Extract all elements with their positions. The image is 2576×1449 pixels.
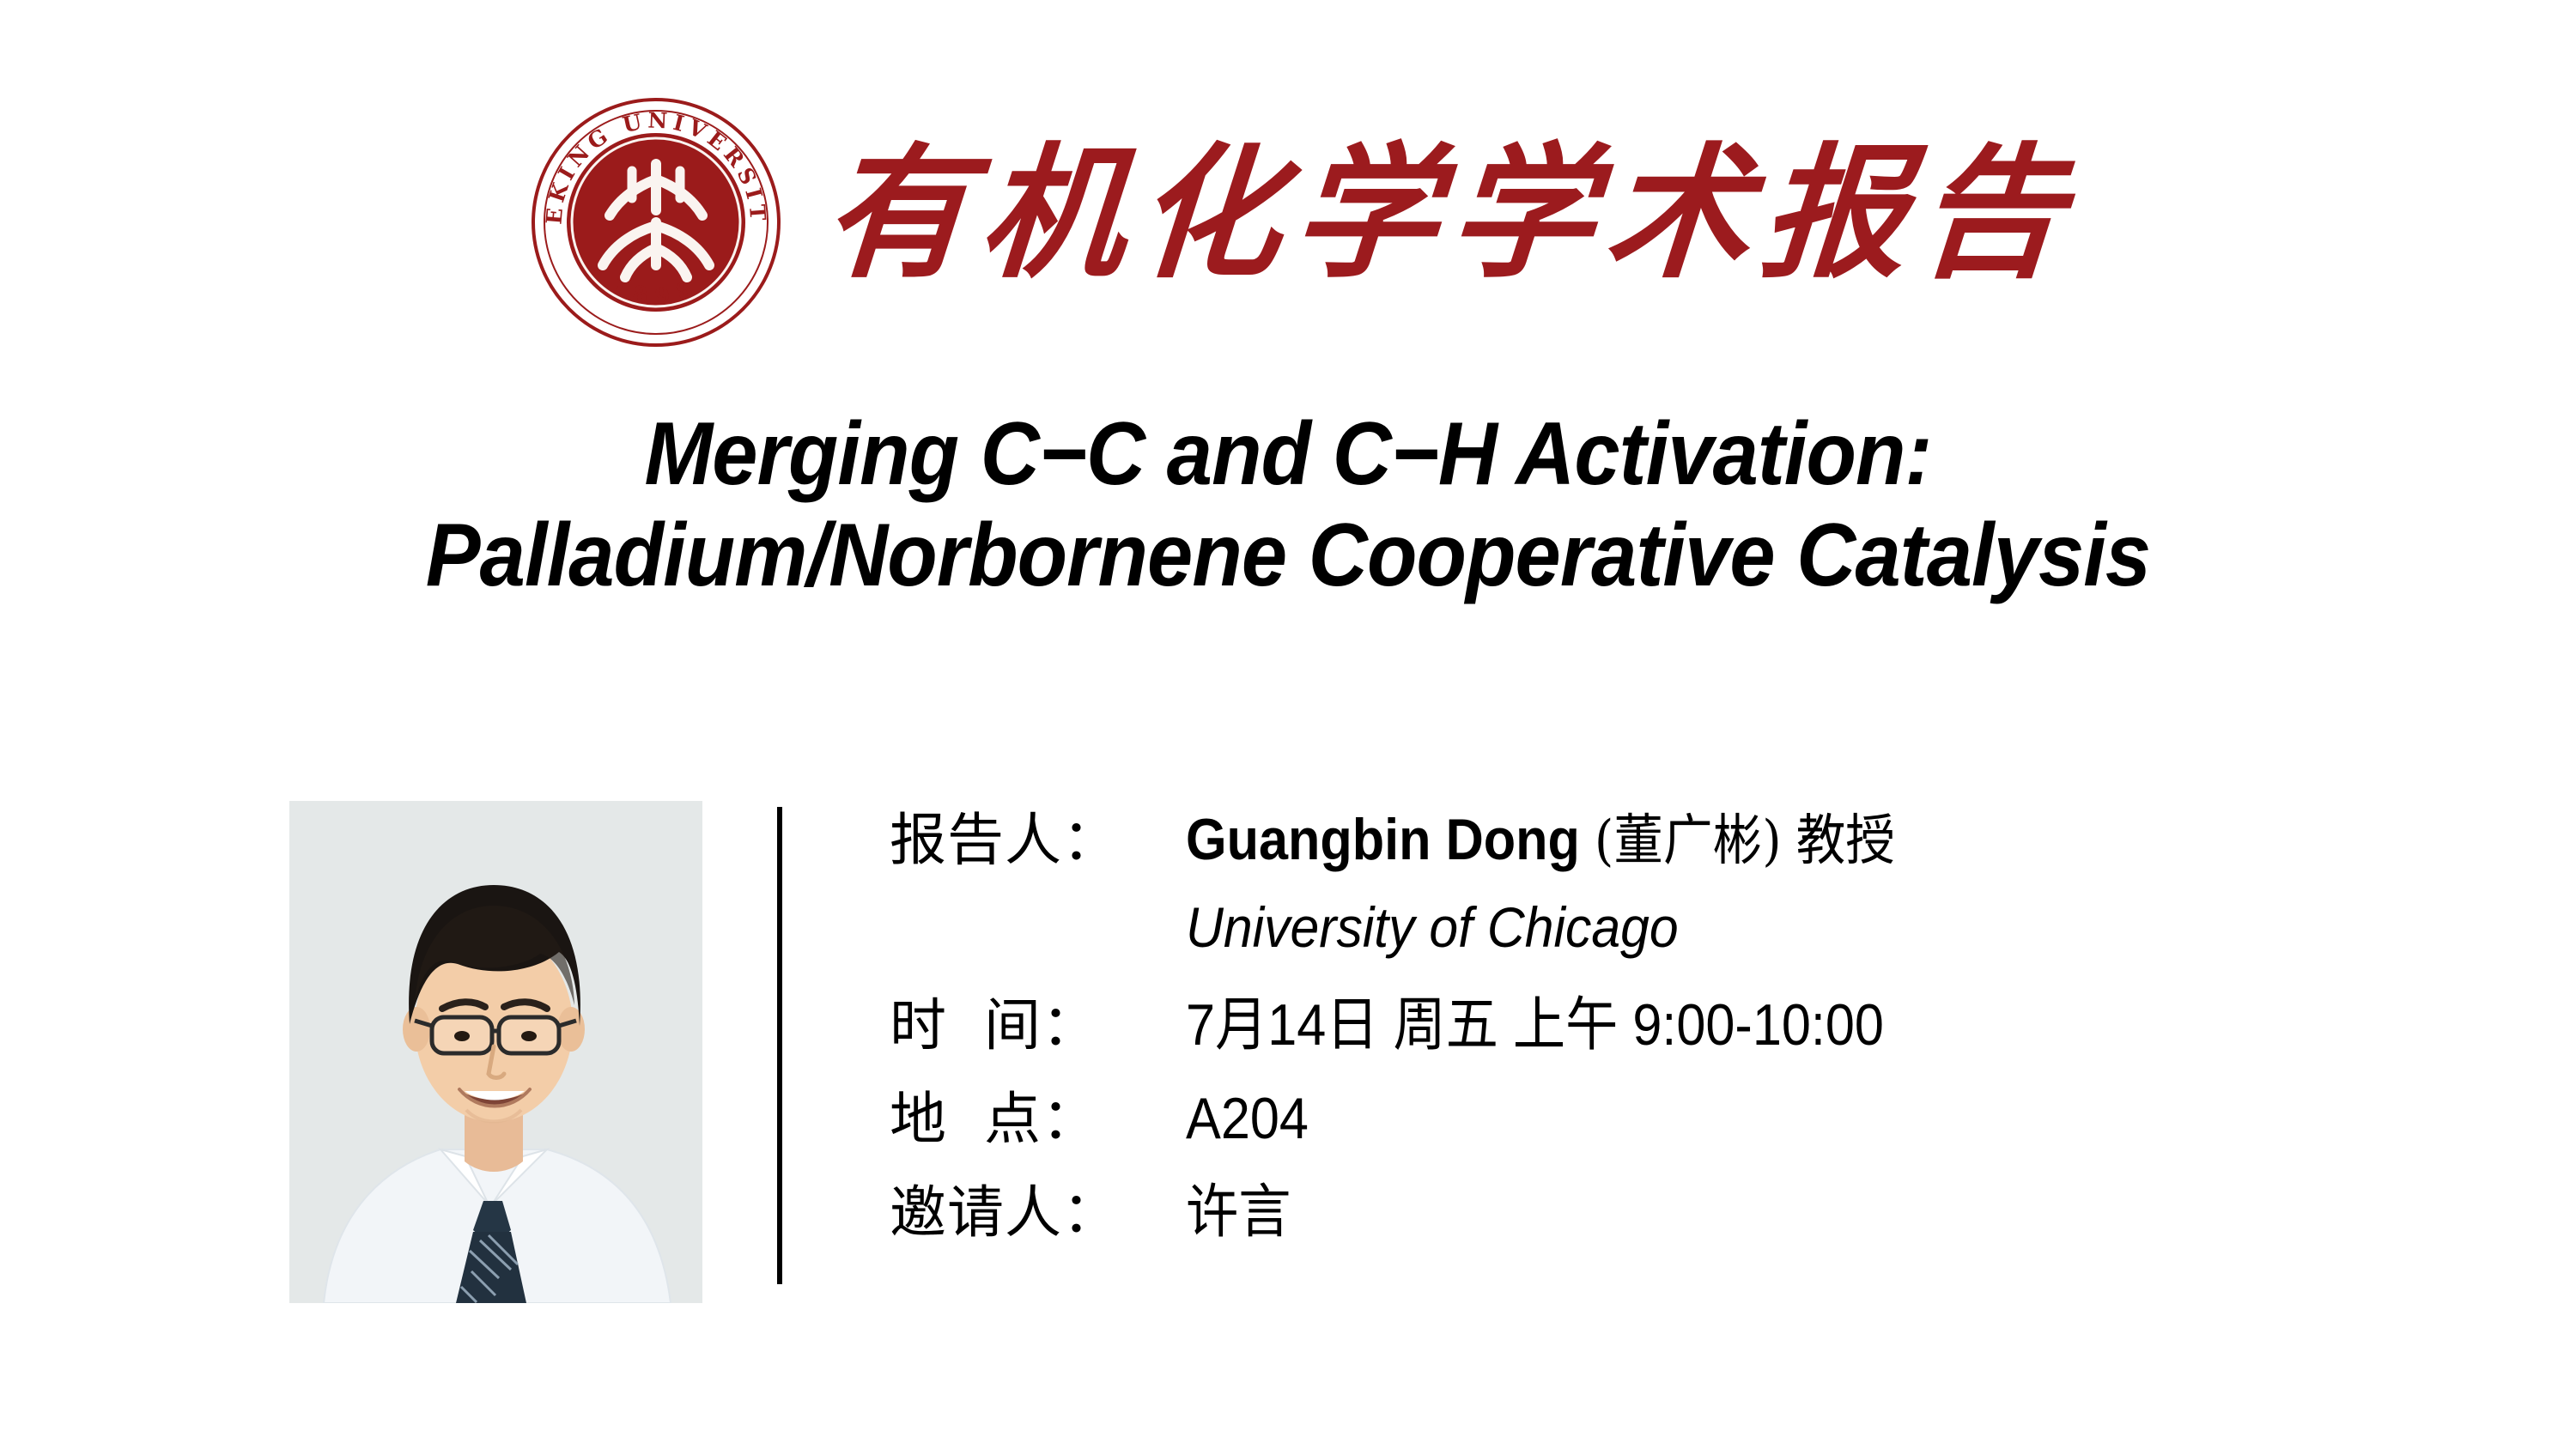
host-value: 许言	[1186, 1171, 1291, 1253]
venue-label-char1: 地	[890, 1086, 984, 1152]
detail-row-host: 邀请人：许言	[890, 1171, 2435, 1254]
speaker-affiliation: University of Chicago	[1186, 882, 2336, 972]
host-label: 邀请人：	[890, 1172, 1186, 1254]
detail-row-speaker: 报告人：Guangbin Dong (董广彬) 教授	[890, 798, 2435, 882]
seminar-details: 报告人：Guangbin Dong (董广彬) 教授 University of…	[890, 798, 2435, 1258]
detail-row-venue: 地点：A204	[890, 1077, 2435, 1161]
venue-value: A204	[1186, 1077, 1309, 1160]
time-value: 7月14日 周五 上午 9:00-10:00	[1186, 984, 1884, 1066]
header-band: PEKING UNIVERSITY 1898 有机化学学术报告	[0, 82, 2576, 356]
page-title-line-2: Palladium/Norbornene Cooperative Catalys…	[103, 505, 2473, 606]
time-label-char1: 时	[890, 992, 984, 1058]
seminar-series-banner: 有机化学学术报告	[817, 106, 2120, 329]
speaker-label: 报告人：	[890, 799, 1186, 882]
venue-label-char2: 点	[984, 1086, 1042, 1152]
detail-row-time: 时间：7月14日 周五 上午 9:00-10:00	[890, 984, 2435, 1067]
speaker-value: Guangbin Dong (董广彬) 教授	[1186, 798, 1895, 882]
speaker-chinese-name: (董广彬)	[1595, 809, 1782, 873]
page-title-line-1: Merging C−C and C−H Activation:	[103, 403, 2473, 505]
speaker-name: Guangbin Dong	[1186, 807, 1580, 872]
venue-label: 地点：	[890, 1078, 1186, 1161]
speaker-portrait	[289, 801, 702, 1303]
details-divider-rule	[777, 807, 782, 1284]
time-label-char2: 间	[984, 992, 1042, 1058]
speaker-academic-title: 教授	[1796, 809, 1895, 873]
time-label: 时间：	[890, 985, 1186, 1067]
page-title: Merging C−C and C−H Activation: Palladiu…	[103, 403, 2473, 606]
peking-university-seal-icon: PEKING UNIVERSITY 1898	[531, 97, 781, 348]
